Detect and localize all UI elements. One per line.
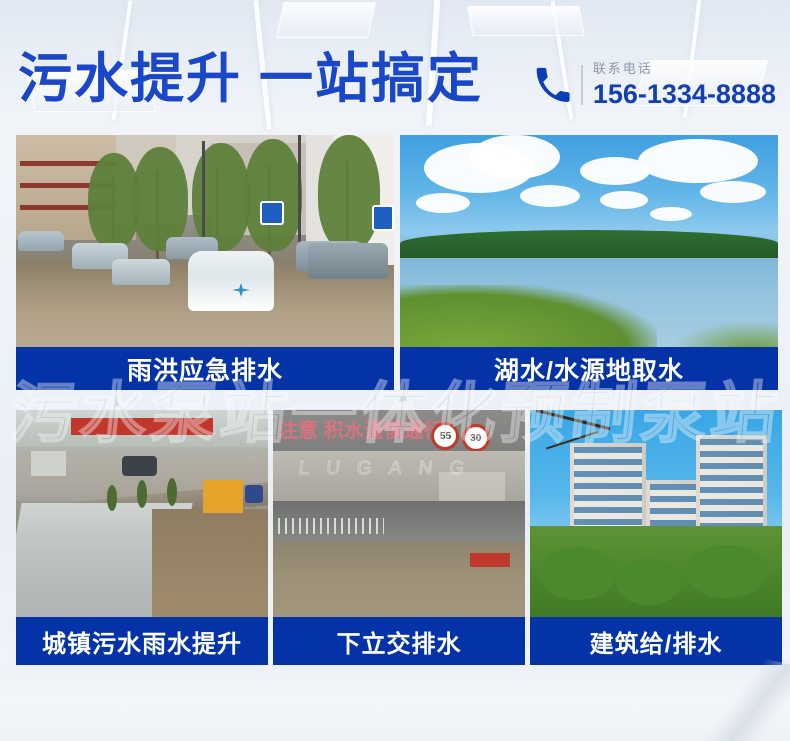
gallery-row-top: 雨洪应急排水 [16,135,778,390]
card-caption: 雨洪应急排水 [16,347,394,390]
contact-block[interactable]: 联系电话 156-1334-8888 [533,62,776,108]
contact-divider [581,65,583,105]
gallery-row-bottom: 城镇污水雨水提升 注意 积水谨慎通行 55 30 下立交排水 [16,410,782,665]
footer-blank-area [0,666,790,741]
underpass-warning-text: 注意 积水谨慎通行 [278,414,444,439]
promo-banner-page: 污水提升 一站搞定 联系电话 156-1334-8888 [0,0,790,741]
contact-label: 联系电话 [593,62,776,75]
photo-town-street-pump [16,410,268,617]
contact-text: 联系电话 156-1334-8888 [593,62,776,108]
photo-flooded-underpass: 注意 积水谨慎通行 55 30 [273,410,525,617]
card-building-water-supply-drainage[interactable]: 建筑给/排水 [530,410,782,665]
card-underpass-drainage[interactable]: 注意 积水谨慎通行 55 30 下立交排水 [273,410,525,665]
photo-residential-towers [530,410,782,617]
contact-phone-number[interactable]: 156-1334-8888 [593,81,776,108]
photo-lake [400,135,778,347]
header: 污水提升 一站搞定 联系电话 156-1334-8888 [0,0,790,130]
phone-icon [533,66,571,104]
card-urban-sewage-rainwater-lifting[interactable]: 城镇污水雨水提升 [16,410,268,665]
photo-flooded-street [16,135,394,347]
page-title: 污水提升 一站搞定 [18,48,483,110]
card-caption: 下立交排水 [273,617,525,665]
card-caption: 城镇污水雨水提升 [16,617,268,665]
card-rain-flood-emergency-drainage[interactable]: 雨洪应急排水 [16,135,394,390]
card-lake-water-source-intake[interactable]: 湖水/水源地取水 [400,135,778,390]
card-caption: 湖水/水源地取水 [400,347,778,390]
